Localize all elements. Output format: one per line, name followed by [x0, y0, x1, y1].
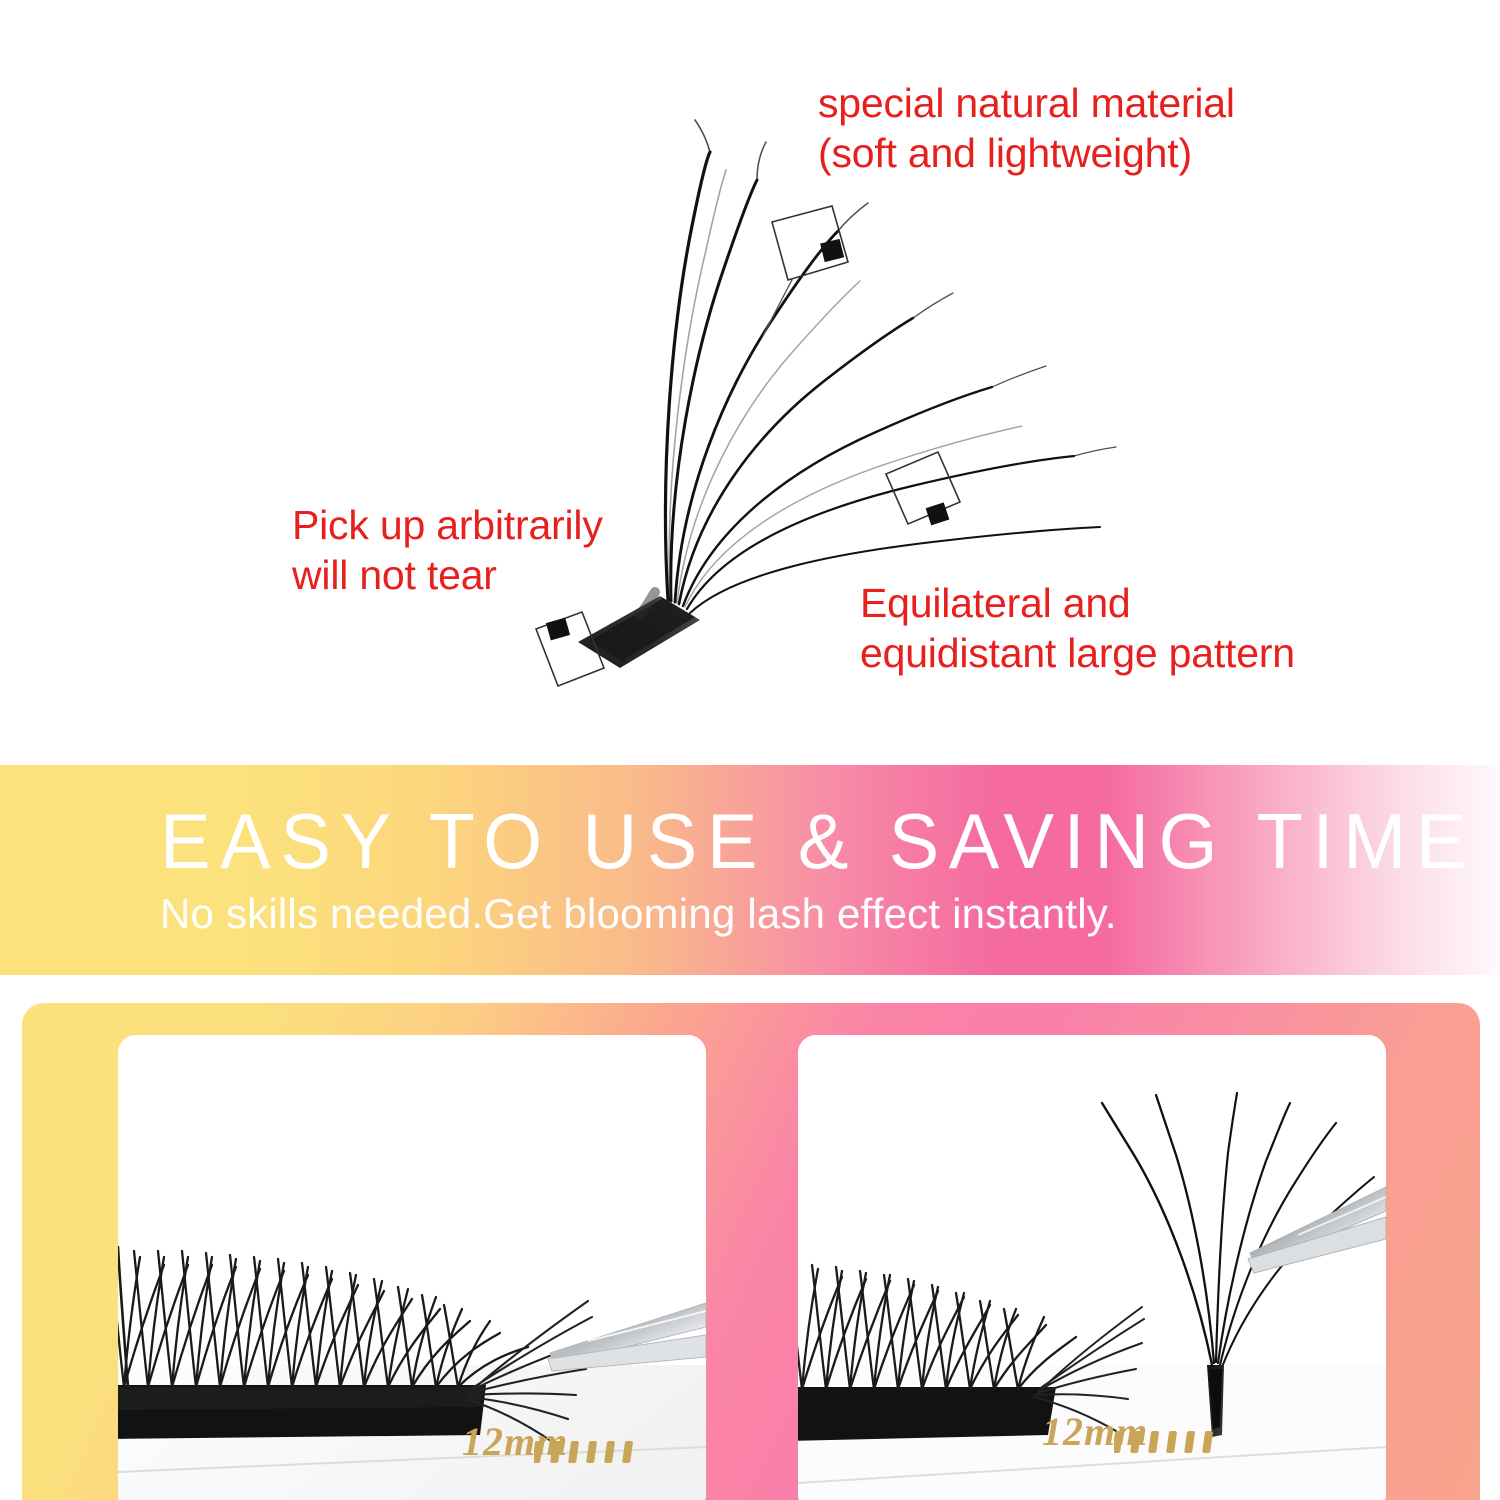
photo-gallery-frame: 12mm [22, 1003, 1480, 1500]
callout-pick-up: Pick up arbitrarily will not tear [292, 500, 603, 600]
banner-subtitle: No skills needed.Get blooming lash effec… [160, 893, 1117, 935]
callout-special-material: special natural material (soft and light… [818, 78, 1235, 178]
photo-card-lash-fan-pickup [798, 1035, 1386, 1500]
lash-tray-photo [118, 1035, 706, 1500]
lash-fan-diagram-section: special natural material (soft and light… [0, 0, 1500, 765]
gold-ticks-right-icon [1114, 1425, 1244, 1461]
product-infographic: special natural material (soft and light… [0, 0, 1500, 1500]
gold-ticks-left-icon [534, 1435, 664, 1471]
lash-strands-icon [665, 152, 1100, 613]
lash-base-icon [578, 592, 700, 668]
photo-card-lash-tray: 12mm [118, 1035, 706, 1500]
banner-headline: EASY TO USE & SAVING TIME [160, 802, 1363, 880]
lash-fan-pickup-photo [798, 1035, 1386, 1500]
callout-equilateral: Equilateral and equidistant large patter… [860, 578, 1295, 678]
